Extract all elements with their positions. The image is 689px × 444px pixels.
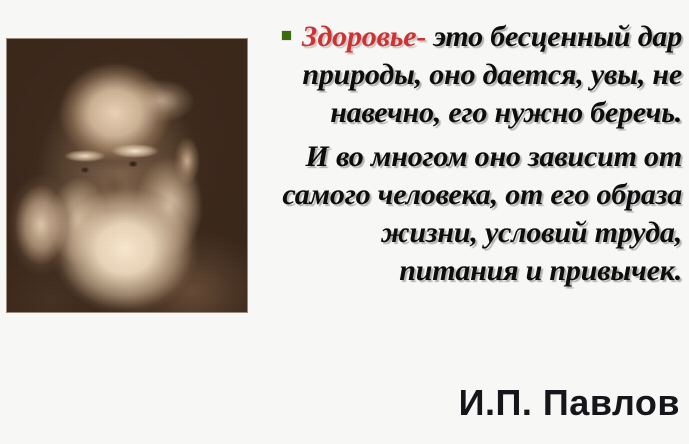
quote-paragraph-1: Здоровье- это бесценный дар природы, оно…	[268, 18, 682, 132]
attribution-author-name: И.П. Павлов	[459, 382, 680, 424]
quote-highlight-word: Здоровье-	[302, 20, 426, 53]
slide-canvas: Здоровье- это бесценный дар природы, оно…	[0, 0, 689, 444]
quote-block: Здоровье- это бесценный дар природы, оно…	[268, 18, 682, 290]
square-bullet-icon	[281, 30, 292, 41]
portrait-photo-frame	[6, 38, 248, 313]
pavlov-portrait-image	[7, 39, 247, 312]
quote-paragraph-2: И во многом оно зависит от самого челове…	[268, 138, 682, 290]
